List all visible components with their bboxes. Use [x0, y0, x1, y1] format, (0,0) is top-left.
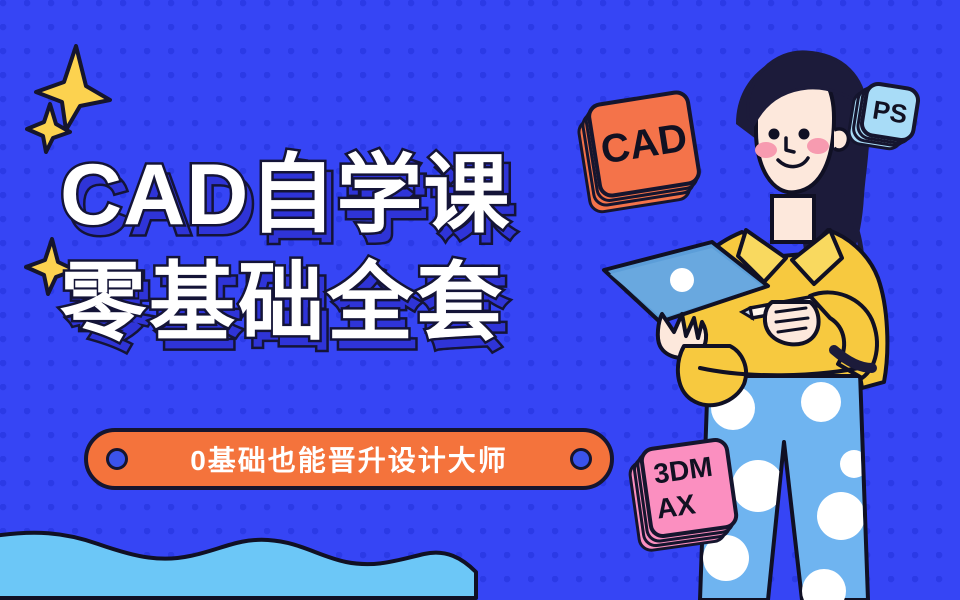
card-3dmax[interactable]: 3DM AX	[638, 436, 740, 540]
subtitle-text: 0基础也能晋升设计大师	[190, 439, 508, 479]
wave-shape	[0, 514, 474, 600]
title-line-1: CAD自学课 CAD自学课	[60, 152, 660, 238]
card-3dmax-label-line2: AX	[653, 487, 732, 524]
title-line-2: 零基础全套 零基础全套	[60, 260, 660, 346]
subtitle-pill[interactable]: 0基础也能晋升设计大师	[84, 428, 614, 490]
card-3dmax-label-line1: 3DM	[648, 452, 729, 489]
card-3dmax-label: 3DM AX	[638, 436, 740, 540]
pill-dot-left-icon	[106, 448, 128, 470]
poster-title: CAD自学课 CAD自学课 零基础全套 零基础全套	[60, 152, 660, 346]
card-ps-label: PS	[858, 80, 922, 144]
card-ps[interactable]: PS	[858, 80, 922, 144]
title-line-1-text: CAD自学课	[60, 147, 510, 243]
pill-dot-right-icon	[570, 448, 592, 470]
title-line-2-text: 零基础全套	[60, 255, 505, 351]
poster-canvas: CAD PS 3DM AX CAD自学课 CAD自学课 零基础全套	[0, 0, 960, 600]
